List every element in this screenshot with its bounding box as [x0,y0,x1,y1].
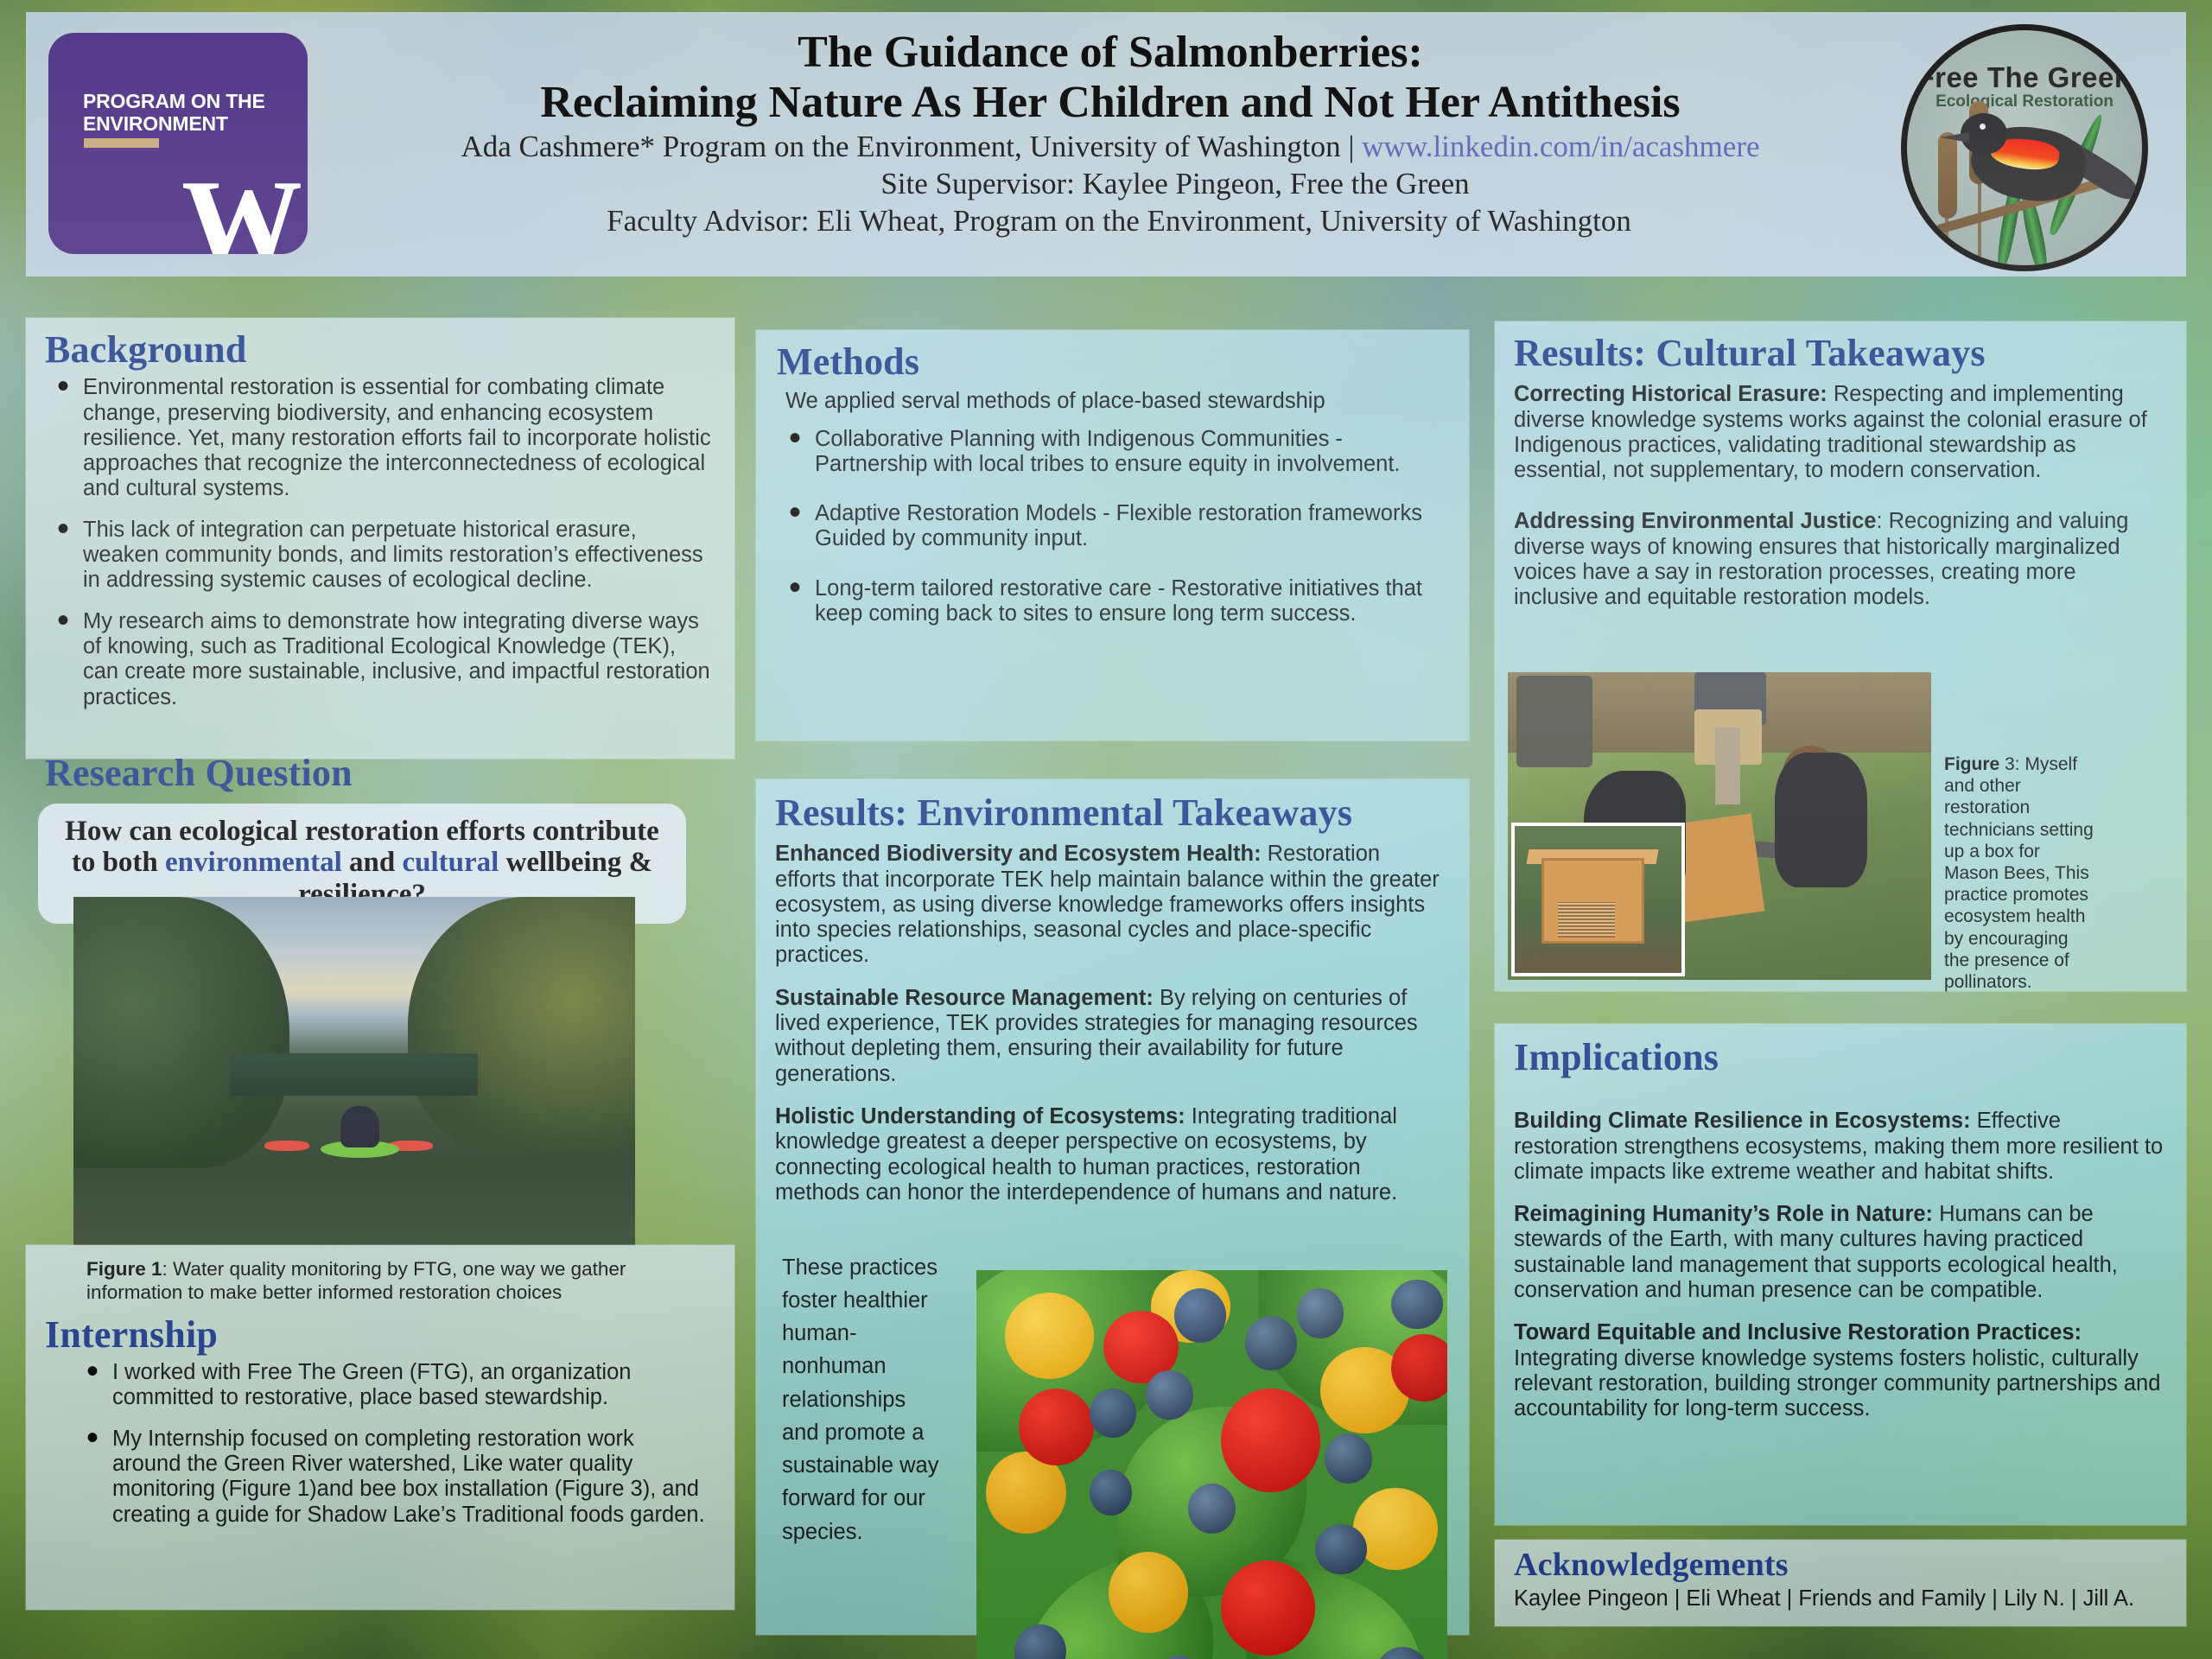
results-cultural-heading-a: Results: [1514,332,1646,374]
uw-logo-text: PROGRAM ON THE ENVIRONMENT [83,90,265,136]
berry-blue [1391,1280,1443,1330]
methods-bullet-list: Collaborative Planning with Indigenous C… [777,427,1446,627]
berry-blue [1297,1288,1344,1338]
background-bullet-list: Environmental restoration is essential f… [45,375,712,710]
acknowledgements-panel: Acknowledgements Kaylee Pingeon | Eli Wh… [1495,1540,2186,1626]
results-environmental-heading: Results: Environmental Takeaways [775,793,1446,833]
results-cultural-item-title: Correcting Historical Erasure: [1514,382,1827,406]
list-item: This lack of integration can perpetuate … [83,518,712,594]
results-env-item-title: Enhanced Biodiversity and Ecosystem Heal… [775,842,1262,866]
berry-blue [1325,1433,1372,1484]
acknowledgements-text: Kaylee Pingeon | Eli Wheat | Friends and… [1514,1586,2167,1611]
berry-blue [1174,1288,1226,1343]
results-env-heading-a: Results: [775,791,907,834]
rq-highlight-cultural: cultural [402,847,499,878]
author-linkedin-link[interactable]: www.linkedin.com/in/acashmere [1362,130,1759,163]
author-affiliation: Ada Cashmere* Program on the Environment… [461,130,1362,163]
poster-canvas: PROGRAM ON THE ENVIRONMENT W The Guidanc… [0,0,2212,1659]
tree-canopy-right [408,897,635,1154]
rq-highlight-environmental: environmental [165,847,342,878]
figure1-caption-text: : Water quality monitoring by FTG, one w… [86,1258,626,1303]
berry-yellow [1353,1488,1438,1570]
results-env-side-note: These practices foster healthier human-n… [782,1251,942,1548]
research-question-text: How can ecological restoration efforts c… [54,816,671,910]
results-cultural-item: Addressing Environmental Justice: Recogn… [1514,509,2165,610]
berry-red [1221,1389,1319,1493]
list-item: Environmental restoration is essential f… [83,375,712,502]
results-env-item: Sustainable Resource Management: By rely… [775,986,1446,1087]
berry-blue [1245,1316,1297,1370]
implications-item: Building Climate Resilience in Ecosystem… [1514,1109,2164,1185]
implications-heading: Implications [1514,1038,2164,1077]
berry-red [1221,1560,1315,1656]
tree-canopy-left [73,897,289,1168]
results-cultural-heading: Results: Cultural Takeaways [1514,334,2165,373]
berry-blue [1315,1524,1367,1574]
uw-logo-line2: ENVIRONMENT [83,112,228,135]
uw-gold-rule [84,138,159,148]
distant-treeline [231,1053,478,1095]
uw-logo-line1: PROGRAM ON THE [83,90,265,112]
implications-item-title: Toward Equitable and Inclusive Restorati… [1514,1320,2082,1344]
figure1-label: Figure 1 [86,1258,162,1280]
implications-item-title: Reimagining Humanity’s Role in Nature: [1514,1202,1933,1226]
background-panel: Background Environmental restoration is … [26,318,734,759]
berry-yellow [1005,1293,1095,1379]
berry-yellow [1109,1552,1189,1634]
list-item: My Internship focused on completing rest… [112,1427,709,1528]
figure3-caption-text: 3: Myself and other restoration technici… [1944,754,2094,992]
figure1-caption: Figure 1: Water quality monitoring by FT… [86,1257,709,1305]
berry-red [1019,1389,1094,1465]
berry-blue [1188,1484,1236,1534]
berry-blue [1146,1370,1193,1421]
results-env-item-title: Holistic Understanding of Ecosystems: [775,1104,1185,1128]
implications-panel: Implications Building Climate Resilience… [1495,1024,2186,1525]
results-env-heading-b: Environmental Takeaways [907,791,1352,834]
results-cultural-heading-b: Cultural Takeaways [1646,332,1986,374]
implications-item: Toward Equitable and Inclusive Restorati… [1514,1320,2164,1421]
kayaker-figure [340,1106,380,1147]
poster-header: PROGRAM ON THE ENVIRONMENT W The Guidanc… [26,12,2186,276]
berry-blue [1090,1470,1132,1516]
faculty-advisor-line: Faculty Advisor: Eli Wheat, Program on t… [311,204,1910,239]
results-cultural-item: Correcting Historical Erasure: Respectin… [1514,382,2165,483]
list-item: Collaborative Planning with Indigenous C… [815,427,1446,478]
berry-blue [1090,1389,1137,1439]
standing-person-legs [1516,676,1592,768]
list-item: My research aims to demonstrate how inte… [83,609,712,710]
results-env-item-title: Sustainable Resource Management: [775,986,1154,1010]
wooden-post [1715,728,1740,804]
results-env-item: Enhanced Biodiversity and Ecosystem Heal… [775,842,1446,969]
acknowledgements-heading: Acknowledgements [1514,1548,2167,1583]
figure1-caption-panel: Figure 1: Water quality monitoring by FT… [26,1245,734,1610]
free-the-green-logo: Free The Green Ecological Restoration [1901,24,2148,271]
figure2-photo-salmonberries [976,1270,1447,1659]
poster-title-line-1: The Guidance of Salmonberries: [311,28,1910,78]
uw-program-on-environment-logo: PROGRAM ON THE ENVIRONMENT W [48,33,308,254]
figure3-photo-bee-box-install [1508,672,1931,980]
methods-heading: Methods [777,342,1446,382]
ftg-logo-title: Free The Green [1907,61,2142,94]
implications-item: Reimagining Humanity’s Role in Nature: H… [1514,1202,2164,1303]
uw-w-wordmark: W [181,162,302,254]
paddle-blade-left [264,1141,309,1151]
results-cultural-item-title: Addressing Environmental Justice [1514,509,1876,533]
figure3-caption: Figure 3: Myself and other restoration t… [1944,753,2096,993]
internship-bullet-list: I worked with Free The Green (FTG), an o… [86,1360,709,1528]
list-item: Long-term tailored restorative care - Re… [815,576,1446,627]
ftg-logo-subtitle: Ecological Restoration [1907,92,2142,111]
bee-box-nest-mesh [1558,902,1615,938]
implications-item-title: Building Climate Resilience in Ecosystem… [1514,1109,1971,1133]
results-env-item: Holistic Understanding of Ecosystems: In… [775,1104,1446,1205]
internship-heading: Internship [45,1315,709,1355]
research-question-heading: Research Question [45,753,650,793]
background-heading: Background [45,330,712,370]
implications-item-text: Integrating diverse knowledge systems fo… [1514,1346,2160,1421]
figure1-photo-kayak-river [73,897,635,1245]
kneeling-technician-right [1775,753,1868,888]
bee-box-inset-photo [1511,823,1685,976]
rq-part-2: and [342,847,403,878]
methods-panel: Methods We applied serval methods of pla… [756,330,1469,741]
title-block: The Guidance of Salmonberries: Reclaimin… [311,28,1910,238]
figure3-caption-wrap: Figure 3: Myself and other restoration t… [1944,753,2096,993]
list-item: I worked with Free The Green (FTG), an o… [112,1360,709,1411]
cattail-head-icon [1938,132,1957,219]
site-supervisor-line: Site Supervisor: Kaylee Pingeon, Free th… [311,167,1910,202]
poster-title-line-2: Reclaiming Nature As Her Children and No… [311,78,1910,128]
blackbird-eye-icon [1980,124,1986,130]
list-item: Adaptive Restoration Models - Flexible r… [815,501,1446,552]
methods-intro: We applied serval methods of place-based… [785,389,1446,414]
author-line: Ada Cashmere* Program on the Environment… [311,130,1910,165]
figure3-label: Figure [1944,754,1999,774]
